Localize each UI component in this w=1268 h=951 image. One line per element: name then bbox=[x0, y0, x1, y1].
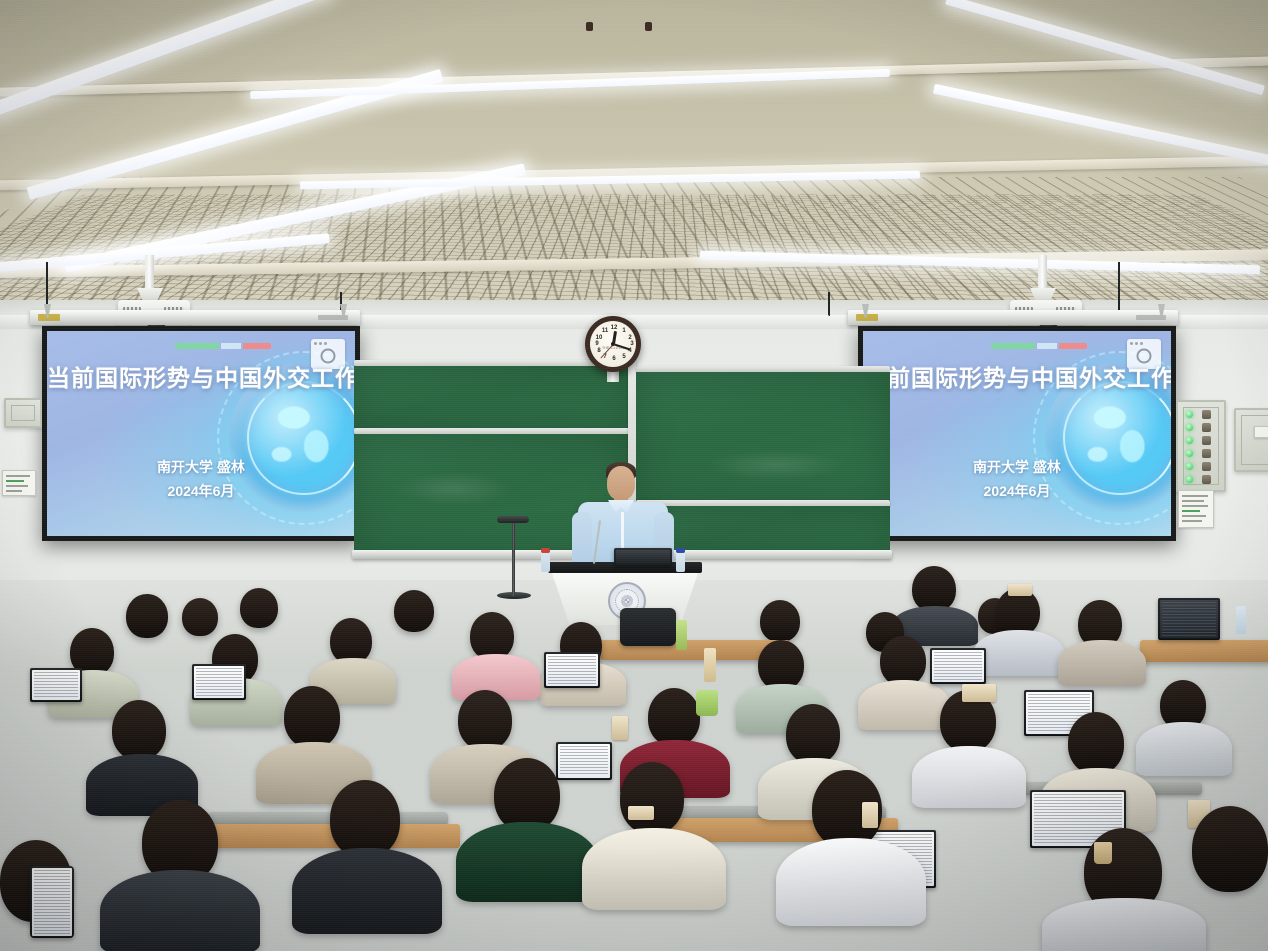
panel-switch[interactable] bbox=[1202, 436, 1211, 445]
student-head bbox=[620, 762, 684, 834]
ceiling-beam bbox=[0, 55, 1268, 97]
student-head bbox=[284, 686, 340, 748]
slide-status-segment-red bbox=[243, 343, 271, 349]
left-wall-notice bbox=[2, 470, 36, 496]
slide-date-right: 2024年6月 bbox=[863, 481, 1171, 501]
student-shoulders bbox=[912, 746, 1026, 808]
projector-cable bbox=[1118, 262, 1120, 314]
roller-label bbox=[38, 314, 60, 321]
projector-mount-pole bbox=[145, 255, 154, 291]
student-shoulders bbox=[292, 848, 442, 934]
clock-center-pin bbox=[611, 342, 615, 346]
student-laptop[interactable] bbox=[930, 648, 986, 684]
slide-widget-dots bbox=[1130, 342, 1143, 345]
panel-switch[interactable] bbox=[1202, 449, 1211, 458]
hair-clip bbox=[1008, 584, 1032, 596]
wall-clock: 12 1 2 3 4 5 6 7 8 9 10 11 THE CLOCK bbox=[585, 316, 641, 372]
student-head bbox=[786, 704, 840, 764]
slide-status-segment-green bbox=[175, 343, 219, 349]
left-projection-screen[interactable]: 当前国际形势与中国外交工作 南开大学 盛林 2024年6月 bbox=[42, 326, 360, 541]
access-panel-inner bbox=[1241, 415, 1268, 465]
slide-status-segment-light bbox=[221, 343, 241, 349]
slide-affiliation-right: 南开大学 盛林 bbox=[863, 457, 1171, 477]
chalk-smudge bbox=[706, 450, 846, 480]
slide-left: 当前国际形势与中国外交工作 南开大学 盛林 2024年6月 bbox=[47, 331, 355, 536]
screen-roller-housing-left bbox=[30, 310, 360, 325]
clock-numeral: 5 bbox=[620, 353, 628, 361]
microphone-stand-pole bbox=[512, 522, 515, 596]
slide-status-segment-green bbox=[991, 343, 1035, 349]
student-shoulders bbox=[456, 822, 598, 902]
notice-line bbox=[6, 480, 24, 482]
student-head bbox=[760, 600, 800, 642]
ceiling-light-fixture bbox=[933, 84, 1268, 167]
student-shoulders bbox=[776, 838, 926, 926]
notice-line bbox=[6, 490, 22, 492]
notice-line bbox=[1182, 495, 1208, 497]
chalkboard-panel-upper-right bbox=[636, 372, 890, 502]
laptop-screen bbox=[616, 550, 670, 564]
speaker-head bbox=[607, 466, 635, 500]
slide-right: 当前国际形势与中国外交工作 南开大学 盛林 2024年6月 bbox=[863, 331, 1171, 536]
hair-clip bbox=[962, 684, 996, 702]
bottle-cap bbox=[676, 548, 685, 553]
panel-switch[interactable] bbox=[1202, 423, 1211, 432]
hair-clip bbox=[628, 806, 654, 820]
drink-cup bbox=[1094, 842, 1112, 864]
notice-line bbox=[1182, 520, 1202, 522]
water-bottle bbox=[676, 620, 687, 650]
panel-indicator-led bbox=[1186, 411, 1193, 418]
water-bottle bbox=[1236, 606, 1246, 634]
notice-line bbox=[1182, 510, 1200, 512]
chalk-smudge bbox=[394, 472, 514, 506]
hair-clip bbox=[862, 802, 878, 828]
clock-face: 12 1 2 3 4 5 6 7 8 9 10 11 THE CLOCK bbox=[590, 321, 636, 367]
student-head bbox=[394, 590, 434, 632]
student-head bbox=[880, 636, 926, 686]
chalkboard-panel-lower-right bbox=[636, 506, 890, 552]
slide-status-segment-light bbox=[1037, 343, 1057, 349]
slide-title-left: 当前国际形势与中国外交工作 bbox=[47, 359, 355, 393]
slide-widget-dots bbox=[314, 342, 327, 345]
screen-roller-housing-right bbox=[848, 310, 1178, 325]
clock-numeral: 11 bbox=[601, 327, 609, 335]
student-head bbox=[494, 758, 560, 832]
student-head bbox=[1192, 806, 1268, 892]
student-head bbox=[648, 688, 700, 746]
desk-row bbox=[1140, 640, 1268, 662]
right-projection-screen[interactable]: 当前国际形势与中国外交工作 南开大学 盛林 2024年6月 bbox=[858, 326, 1176, 541]
notice-line bbox=[6, 475, 30, 477]
student-shoulders bbox=[1042, 898, 1206, 951]
slide-affiliation-left: 南开大学 盛林 bbox=[47, 457, 355, 477]
student-head bbox=[1068, 712, 1124, 774]
panel-switch[interactable] bbox=[1202, 462, 1211, 471]
water-bottle bbox=[676, 548, 685, 572]
student-head bbox=[112, 700, 166, 760]
lecture-hall-photo: 当前国际形势与中国外交工作 南开大学 盛林 2024年6月 当前国际形势与中国外… bbox=[0, 0, 1268, 951]
slide-date-left: 2024年6月 bbox=[47, 481, 355, 501]
student-head bbox=[182, 598, 218, 636]
projector-mount-pole bbox=[1038, 255, 1047, 291]
student-laptop[interactable] bbox=[192, 664, 246, 700]
slide-status-bar bbox=[991, 343, 1087, 349]
student-head bbox=[758, 640, 804, 690]
student-phone[interactable] bbox=[30, 866, 74, 938]
panel-indicator-led bbox=[1186, 424, 1193, 431]
student-shoulders bbox=[858, 680, 950, 730]
slide-status-segment-red bbox=[1059, 343, 1087, 349]
notice-line bbox=[1182, 500, 1204, 502]
notice-line bbox=[1182, 515, 1206, 517]
student-head bbox=[330, 780, 400, 858]
clock-numeral: 6 bbox=[610, 355, 618, 363]
clock-case-ear bbox=[645, 22, 652, 31]
hair-clip bbox=[612, 716, 628, 740]
access-panel-inner bbox=[11, 405, 35, 421]
student-head bbox=[470, 612, 514, 660]
left-access-panel[interactable] bbox=[4, 398, 42, 428]
clock-numeral: 10 bbox=[595, 334, 603, 342]
student-shoulders bbox=[582, 828, 726, 910]
panel-indicator-led bbox=[1186, 437, 1193, 444]
ceiling-light-fixture bbox=[0, 0, 332, 117]
student-shoulders bbox=[1058, 640, 1146, 686]
water-bottle bbox=[541, 548, 550, 572]
student-head bbox=[126, 594, 168, 638]
student-laptop[interactable] bbox=[30, 668, 82, 702]
slide-title-right: 当前国际形势与中国外交工作 bbox=[863, 359, 1171, 393]
notice-line bbox=[6, 485, 28, 487]
ceiling bbox=[0, 0, 1268, 330]
drink-cup bbox=[696, 690, 718, 716]
student-head bbox=[240, 588, 278, 628]
projector-cable bbox=[828, 292, 830, 316]
bottle-cap bbox=[541, 548, 550, 553]
microphone-head bbox=[497, 516, 529, 523]
clock-case-ear bbox=[586, 22, 593, 31]
presenter-laptop[interactable] bbox=[614, 548, 672, 566]
student-shoulders bbox=[100, 870, 260, 951]
access-panel-label bbox=[1254, 426, 1268, 438]
panel-indicator-led bbox=[1186, 476, 1193, 483]
backpack bbox=[620, 608, 676, 646]
right-control-panel[interactable] bbox=[1176, 400, 1226, 492]
student-laptop[interactable] bbox=[1158, 598, 1220, 640]
panel-indicator-led bbox=[1186, 450, 1193, 457]
student-shoulders bbox=[974, 630, 1064, 676]
ceiling-light-fixture bbox=[945, 0, 1265, 95]
notice-line bbox=[1182, 505, 1208, 507]
right-access-panel[interactable] bbox=[1234, 408, 1268, 472]
student-head bbox=[458, 690, 512, 750]
student-shoulders bbox=[1136, 722, 1232, 776]
water-bottle bbox=[704, 648, 716, 682]
control-panel-inner bbox=[1183, 407, 1219, 485]
student-laptop[interactable] bbox=[556, 742, 612, 780]
slide-status-bar bbox=[175, 343, 271, 349]
right-wall-notice bbox=[1178, 490, 1214, 528]
panel-switch[interactable] bbox=[1202, 475, 1211, 484]
chalkboard-panel-upper-left bbox=[354, 366, 628, 428]
panel-switch[interactable] bbox=[1202, 410, 1211, 419]
panel-indicator-led bbox=[1186, 463, 1193, 470]
student-laptop[interactable] bbox=[544, 652, 600, 688]
roller-label bbox=[856, 314, 878, 321]
